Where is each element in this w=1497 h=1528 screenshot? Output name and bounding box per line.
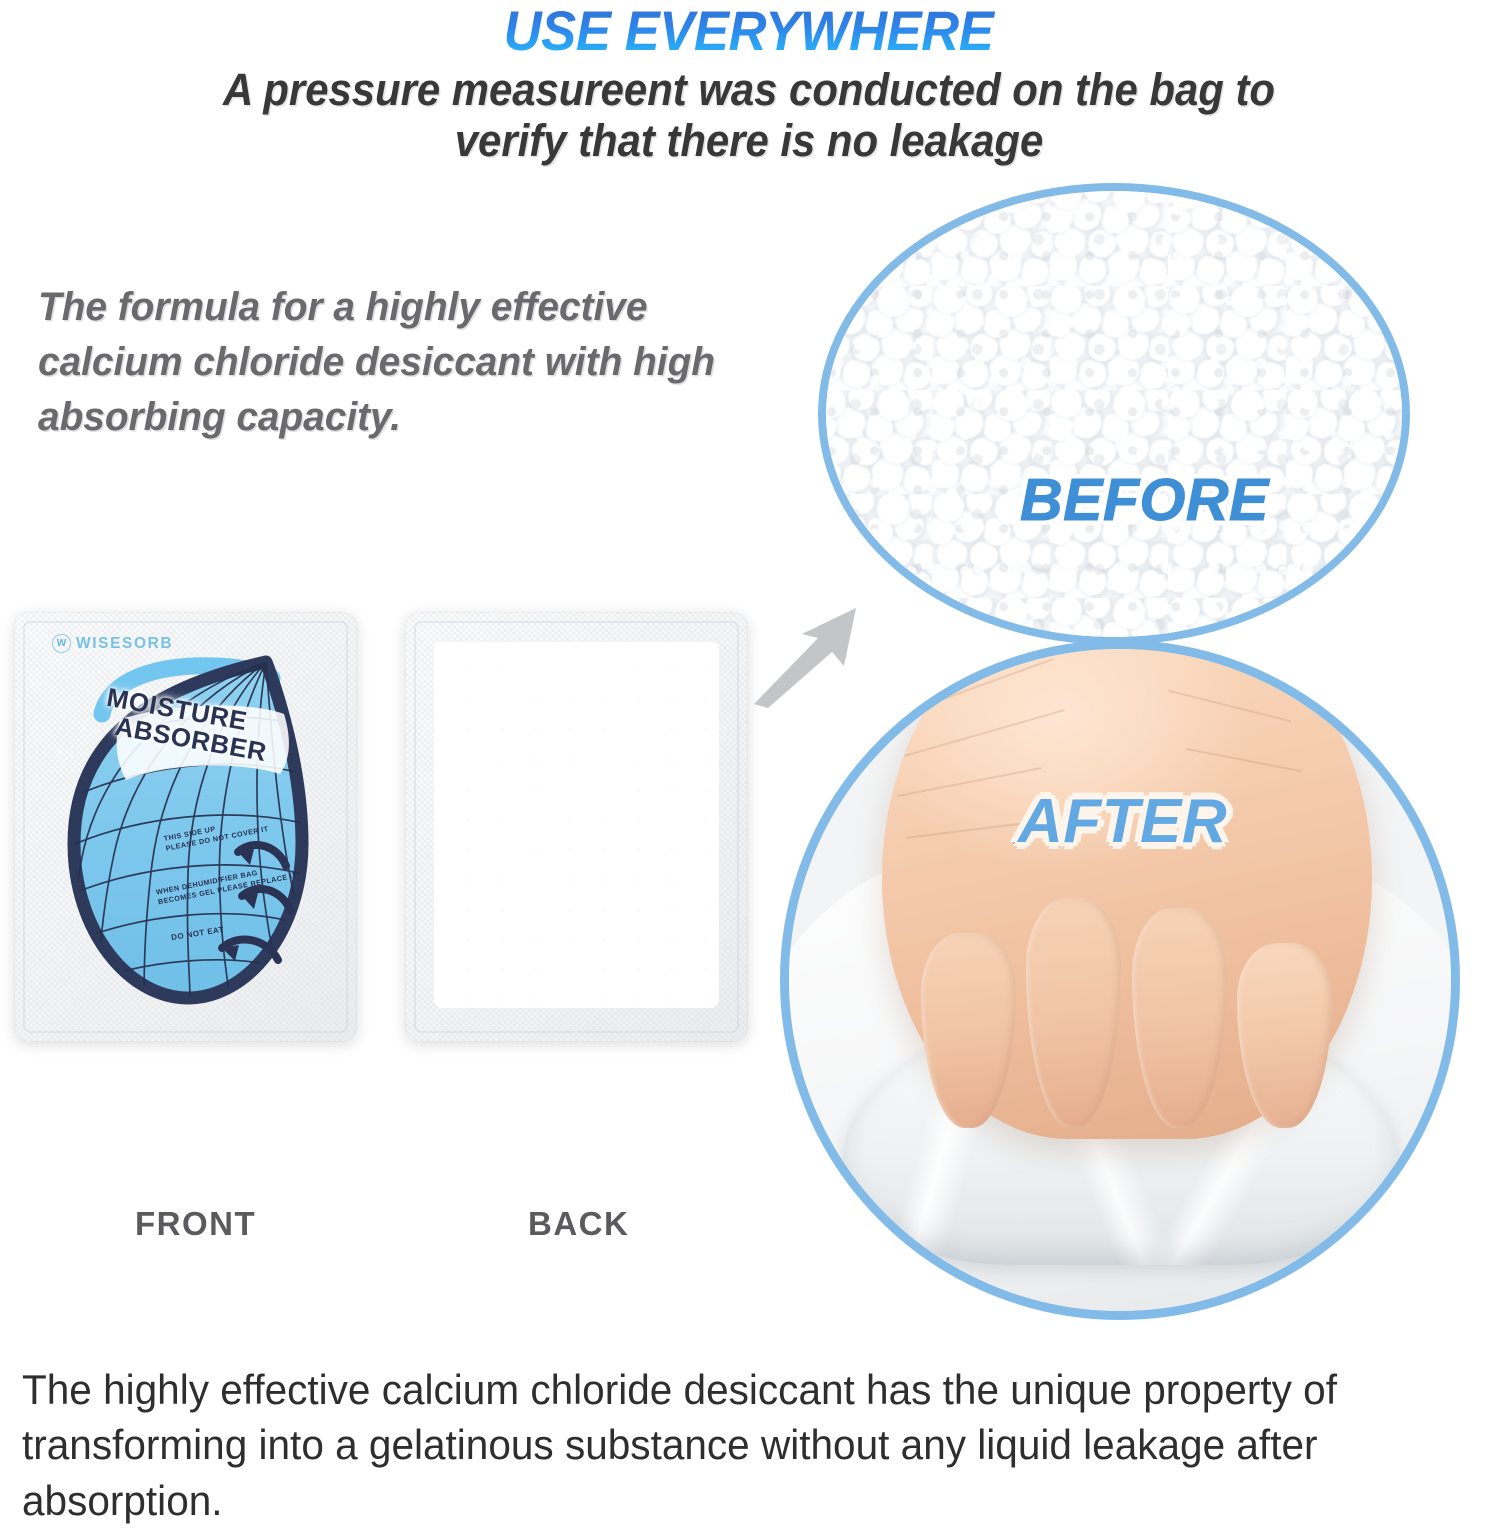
product-packet-front: W WISESORB — [14, 612, 357, 1042]
finger — [1026, 898, 1121, 1128]
brand-name: WISESORB — [76, 635, 173, 653]
finger — [1237, 943, 1332, 1128]
header-block: USE EVERYWHERE A pressure measureent was… — [0, 0, 1497, 166]
packet-label-back: BACK — [528, 1205, 629, 1243]
page-subtitle: A pressure measureent was conducted on t… — [200, 65, 1297, 166]
skin-crease — [904, 709, 1065, 757]
page-subtitle-line-1: A pressure measureent was conducted on t… — [223, 64, 1275, 115]
granules-detail-overlay — [826, 191, 1402, 637]
skin-crease — [907, 822, 1034, 840]
packet-clear-window — [434, 642, 719, 1008]
after-label: AFTER — [1018, 786, 1227, 857]
after-photo-circle — [780, 640, 1460, 1320]
page-subtitle-line-2: verify that there is no leakage — [454, 115, 1042, 166]
finger — [1132, 908, 1227, 1128]
packet-label-front: FRONT — [135, 1205, 256, 1243]
desiccant-beads-texture — [434, 642, 719, 1008]
finger — [921, 933, 1016, 1128]
wisesorb-logo-icon: W — [52, 634, 71, 653]
intro-paragraph: The formula for a highly effective calci… — [38, 280, 785, 446]
skin-crease — [1186, 748, 1302, 772]
footer-paragraph: The highly effective calcium chloride de… — [22, 1362, 1431, 1528]
hand-fist-image — [882, 640, 1372, 1139]
page-title: USE EVERYWHERE — [45, 2, 1452, 59]
skin-crease — [1167, 689, 1291, 722]
skin-crease — [915, 658, 1054, 710]
before-photo-circle — [818, 183, 1410, 645]
product-packet-back — [405, 612, 748, 1042]
fingers-group — [921, 878, 1332, 1128]
brand-logo: W WISESORB — [52, 634, 173, 653]
before-label: BEFORE — [1020, 466, 1269, 534]
water-drop-globe-icon — [40, 648, 336, 1030]
